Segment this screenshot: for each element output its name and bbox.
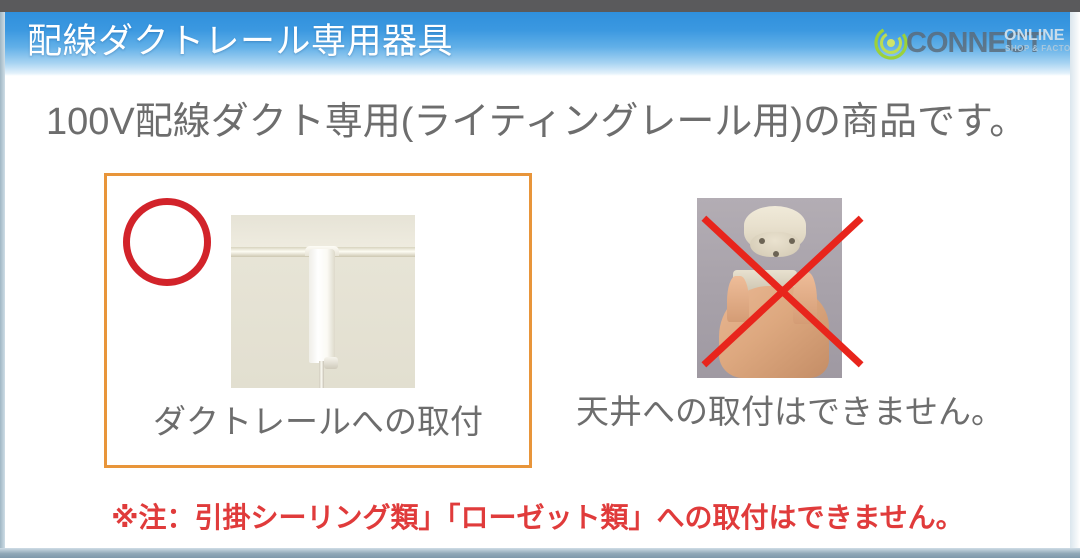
duct-rail-photo [231,215,415,388]
rail-ceiling-area [231,215,415,249]
ng-caption: 天井への取付はできません。 [560,390,1020,434]
card-right-edge [1070,12,1080,558]
connect-logo-icon [874,26,908,60]
brand-logo[interactable]: CONNECT ONLINE SHOP & FACTORY [864,18,1064,66]
rail-adapter-knob [324,357,338,369]
headline-text: 100V配線ダクト専用(ライティングレール用)の商品です。 [46,98,1046,146]
logo-tagline: SHOP & FACTORY [1005,44,1070,54]
rail-adapter-body [309,249,335,363]
rail-adapter-stem [319,361,324,388]
rosette-hole [759,238,765,244]
finger [727,276,749,322]
page-title: 配線ダクトレール専用器具 [27,18,453,66]
red-circle-ok-icon [123,198,211,286]
ng-panel: 天井への取付はできません。 [560,180,1030,465]
ok-caption: ダクトレールへの取付 [107,400,529,444]
rosette-hole [773,251,779,257]
top-dark-strip [0,0,1080,12]
warning-note: ※注：引掛シーリング類」「ローゼット類」への取付はできません。 [0,498,1075,538]
card-bottom-edge [0,548,1080,558]
logo-online-text: ONLINE [1004,27,1064,45]
product-notice-banner: 配線ダクトレール専用器具 CONNECT ONLINE SHOP & FACTO… [0,0,1080,558]
ok-panel: ダクトレールへの取付 [104,173,532,468]
rosette-hole [789,238,795,244]
banner-header: 配線ダクトレール専用器具 CONNECT ONLINE SHOP & FACTO… [5,12,1070,76]
card-left-edge [0,12,5,558]
